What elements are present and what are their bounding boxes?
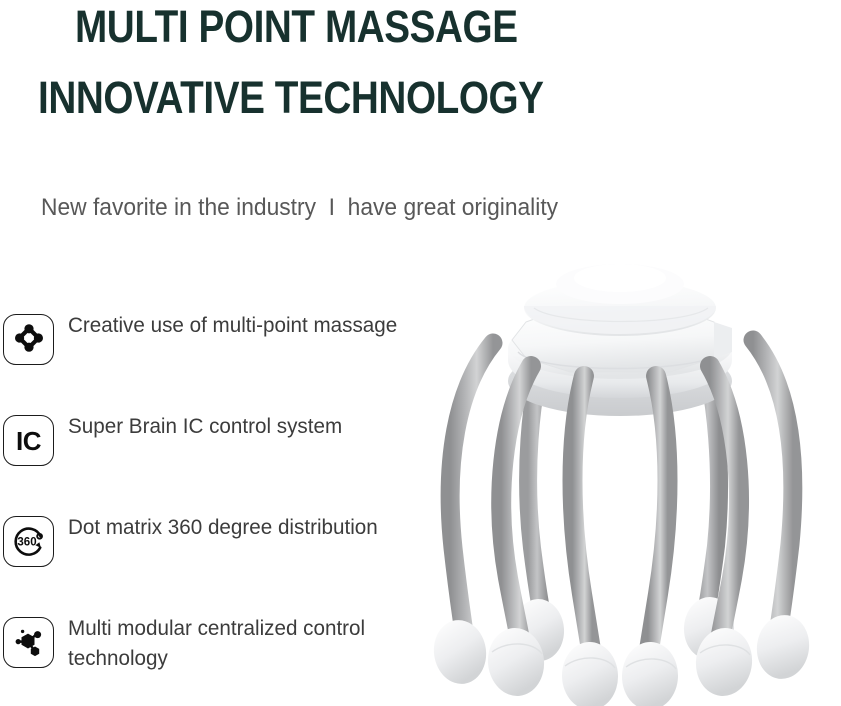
ic-chip-icon: IC xyxy=(3,415,54,466)
headline-line-2: INNOVATIVE TECHNOLOGY xyxy=(38,73,544,123)
feature-label: Creative use of multi-point massage xyxy=(68,310,399,340)
molecule-network-icon xyxy=(3,617,54,668)
product-image-head-massager xyxy=(398,248,841,706)
feature-item-modular-control: Multi modular centralized control techno… xyxy=(0,613,420,706)
feature-list: Creative use of multi-point massage IC S… xyxy=(0,310,420,706)
feature-label: Dot matrix 360 degree distribution xyxy=(68,512,399,542)
svg-text:360: 360 xyxy=(17,536,36,548)
subtitle: New favorite in the industry I have grea… xyxy=(41,192,558,224)
feature-label: Multi modular centralized control techno… xyxy=(68,613,399,673)
product-feature-banner: MULTI POINT MASSAGE INNOVATIVE TECHNOLOG… xyxy=(0,0,841,706)
feature-item-ic-control: IC Super Brain IC control system xyxy=(0,411,420,512)
feature-item-360-distribution: 360 Dot matrix 360 degree distribution xyxy=(0,512,420,613)
multi-point-diamond-icon xyxy=(3,314,54,365)
360-degree-rotation-icon: 360 xyxy=(3,516,54,567)
ic-chip-icon-label: IC xyxy=(16,428,41,454)
headline-line-1: MULTI POINT MASSAGE xyxy=(75,2,518,52)
feature-label: Super Brain IC control system xyxy=(68,411,399,441)
feature-item-multi-point: Creative use of multi-point massage xyxy=(0,310,420,411)
